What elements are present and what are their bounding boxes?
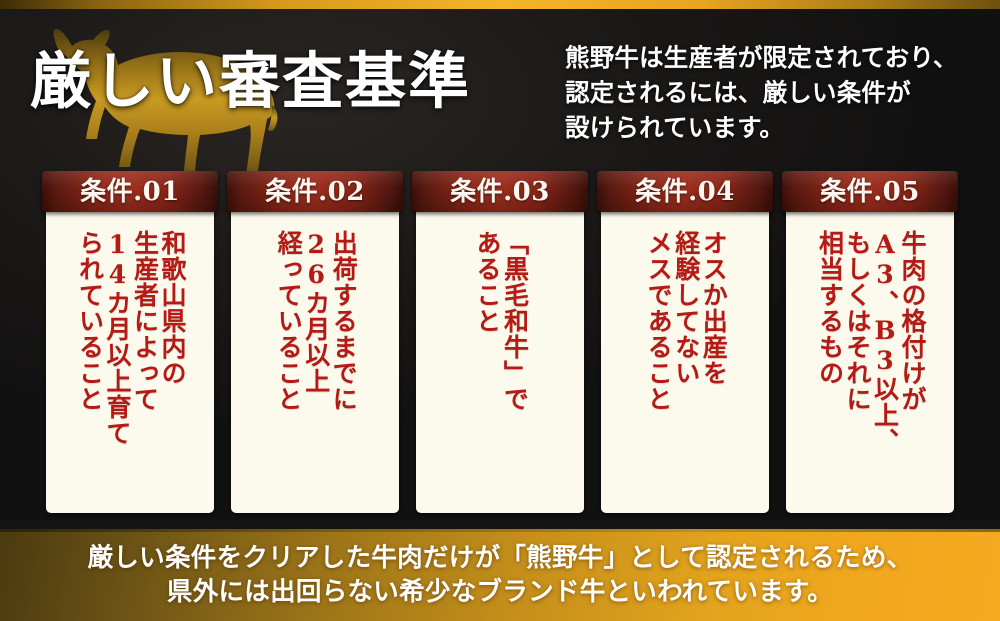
condition-card-list: 条件.01 和歌山県内の 生産者によって 14カ月以上育て られていること 条件… xyxy=(42,171,958,513)
vertical-line: もしくはそれに xyxy=(844,230,871,508)
badge-label: 条件.01 xyxy=(80,179,180,205)
condition-card-01: 条件.01 和歌山県内の 生産者によって 14カ月以上育て られていること xyxy=(42,171,218,513)
footer-divider xyxy=(0,529,1000,532)
vertical-line: 相当するもの xyxy=(816,230,843,508)
condition-text-04: オスか出産を 経験してない メスであること xyxy=(601,226,769,508)
vertical-line: 14カ月以上育て xyxy=(104,230,131,508)
vertical-line: 26カ月以上 xyxy=(302,230,329,508)
vertical-line: あること xyxy=(474,230,501,508)
vertical-line: A3、B3以上、 xyxy=(871,230,898,508)
vertical-line: 経っていること xyxy=(275,230,302,508)
page-title: 厳しい審査基準 xyxy=(30,51,471,112)
vertical-line: られていること xyxy=(76,230,103,508)
condition-badge-04: 条件.04 xyxy=(597,171,773,212)
vertical-line: オスか出産を xyxy=(700,230,727,508)
condition-card-03: 条件.03 「黒毛和牛」で あること xyxy=(412,171,588,513)
footer-line-2: 県外には出回らない希少なブランド牛といわれています。 xyxy=(167,575,833,609)
vertical-line: 出荷するまでに xyxy=(330,230,357,508)
lead-line-1: 熊野牛は生産者が限定されており、 xyxy=(565,41,995,76)
hero-section: 厳しい審査基準 熊野牛は生産者が限定されており、 認定されるには、厳しい条件が … xyxy=(0,9,1000,521)
vertical-line: メスであること xyxy=(645,230,672,508)
condition-card-02: 条件.02 出荷するまでに 26カ月以上 経っていること xyxy=(227,171,403,513)
footer-line-1: 厳しい条件をクリアした牛肉だけが「熊野牛」として認定されるため、 xyxy=(88,541,913,575)
condition-text-03: 「黒毛和牛」で あること xyxy=(416,226,584,508)
condition-badge-03: 条件.03 xyxy=(412,171,588,212)
condition-card-04: 条件.04 オスか出産を 経験してない メスであること xyxy=(597,171,773,513)
vertical-line: 「黒毛和牛」で xyxy=(501,230,528,508)
lead-line-3: 設けられています。 xyxy=(565,111,995,146)
condition-badge-01: 条件.01 xyxy=(42,171,218,212)
condition-card-05: 条件.05 牛肉の格付けが A3、B3以上、 もしくはそれに 相当するもの xyxy=(782,171,958,513)
vertical-line: 経験してない xyxy=(672,230,699,508)
badge-label: 条件.02 xyxy=(265,179,365,205)
condition-badge-05: 条件.05 xyxy=(782,171,958,212)
condition-text-02: 出荷するまでに 26カ月以上 経っていること xyxy=(231,226,399,508)
top-gold-rule xyxy=(0,0,1000,9)
condition-text-05: 牛肉の格付けが A3、B3以上、 もしくはそれに 相当するもの xyxy=(786,226,954,508)
lead-line-2: 認定されるには、厳しい条件が xyxy=(565,76,995,111)
badge-label: 条件.05 xyxy=(820,179,920,205)
poster-root: 厳しい審査基準 熊野牛は生産者が限定されており、 認定されるには、厳しい条件が … xyxy=(0,0,1000,621)
condition-badge-02: 条件.02 xyxy=(227,171,403,212)
lead-paragraph: 熊野牛は生産者が限定されており、 認定されるには、厳しい条件が 設けられています… xyxy=(565,41,995,145)
vertical-line: 牛肉の格付けが xyxy=(899,230,926,508)
badge-label: 条件.04 xyxy=(635,179,735,205)
footer-banner: 厳しい条件をクリアした牛肉だけが「熊野牛」として認定されるため、 県外には出回ら… xyxy=(0,529,1000,621)
badge-label: 条件.03 xyxy=(450,179,550,205)
condition-text-01: 和歌山県内の 生産者によって 14カ月以上育て られていること xyxy=(46,226,214,508)
vertical-line: 生産者によって xyxy=(131,230,158,508)
vertical-line: 和歌山県内の xyxy=(159,230,186,508)
